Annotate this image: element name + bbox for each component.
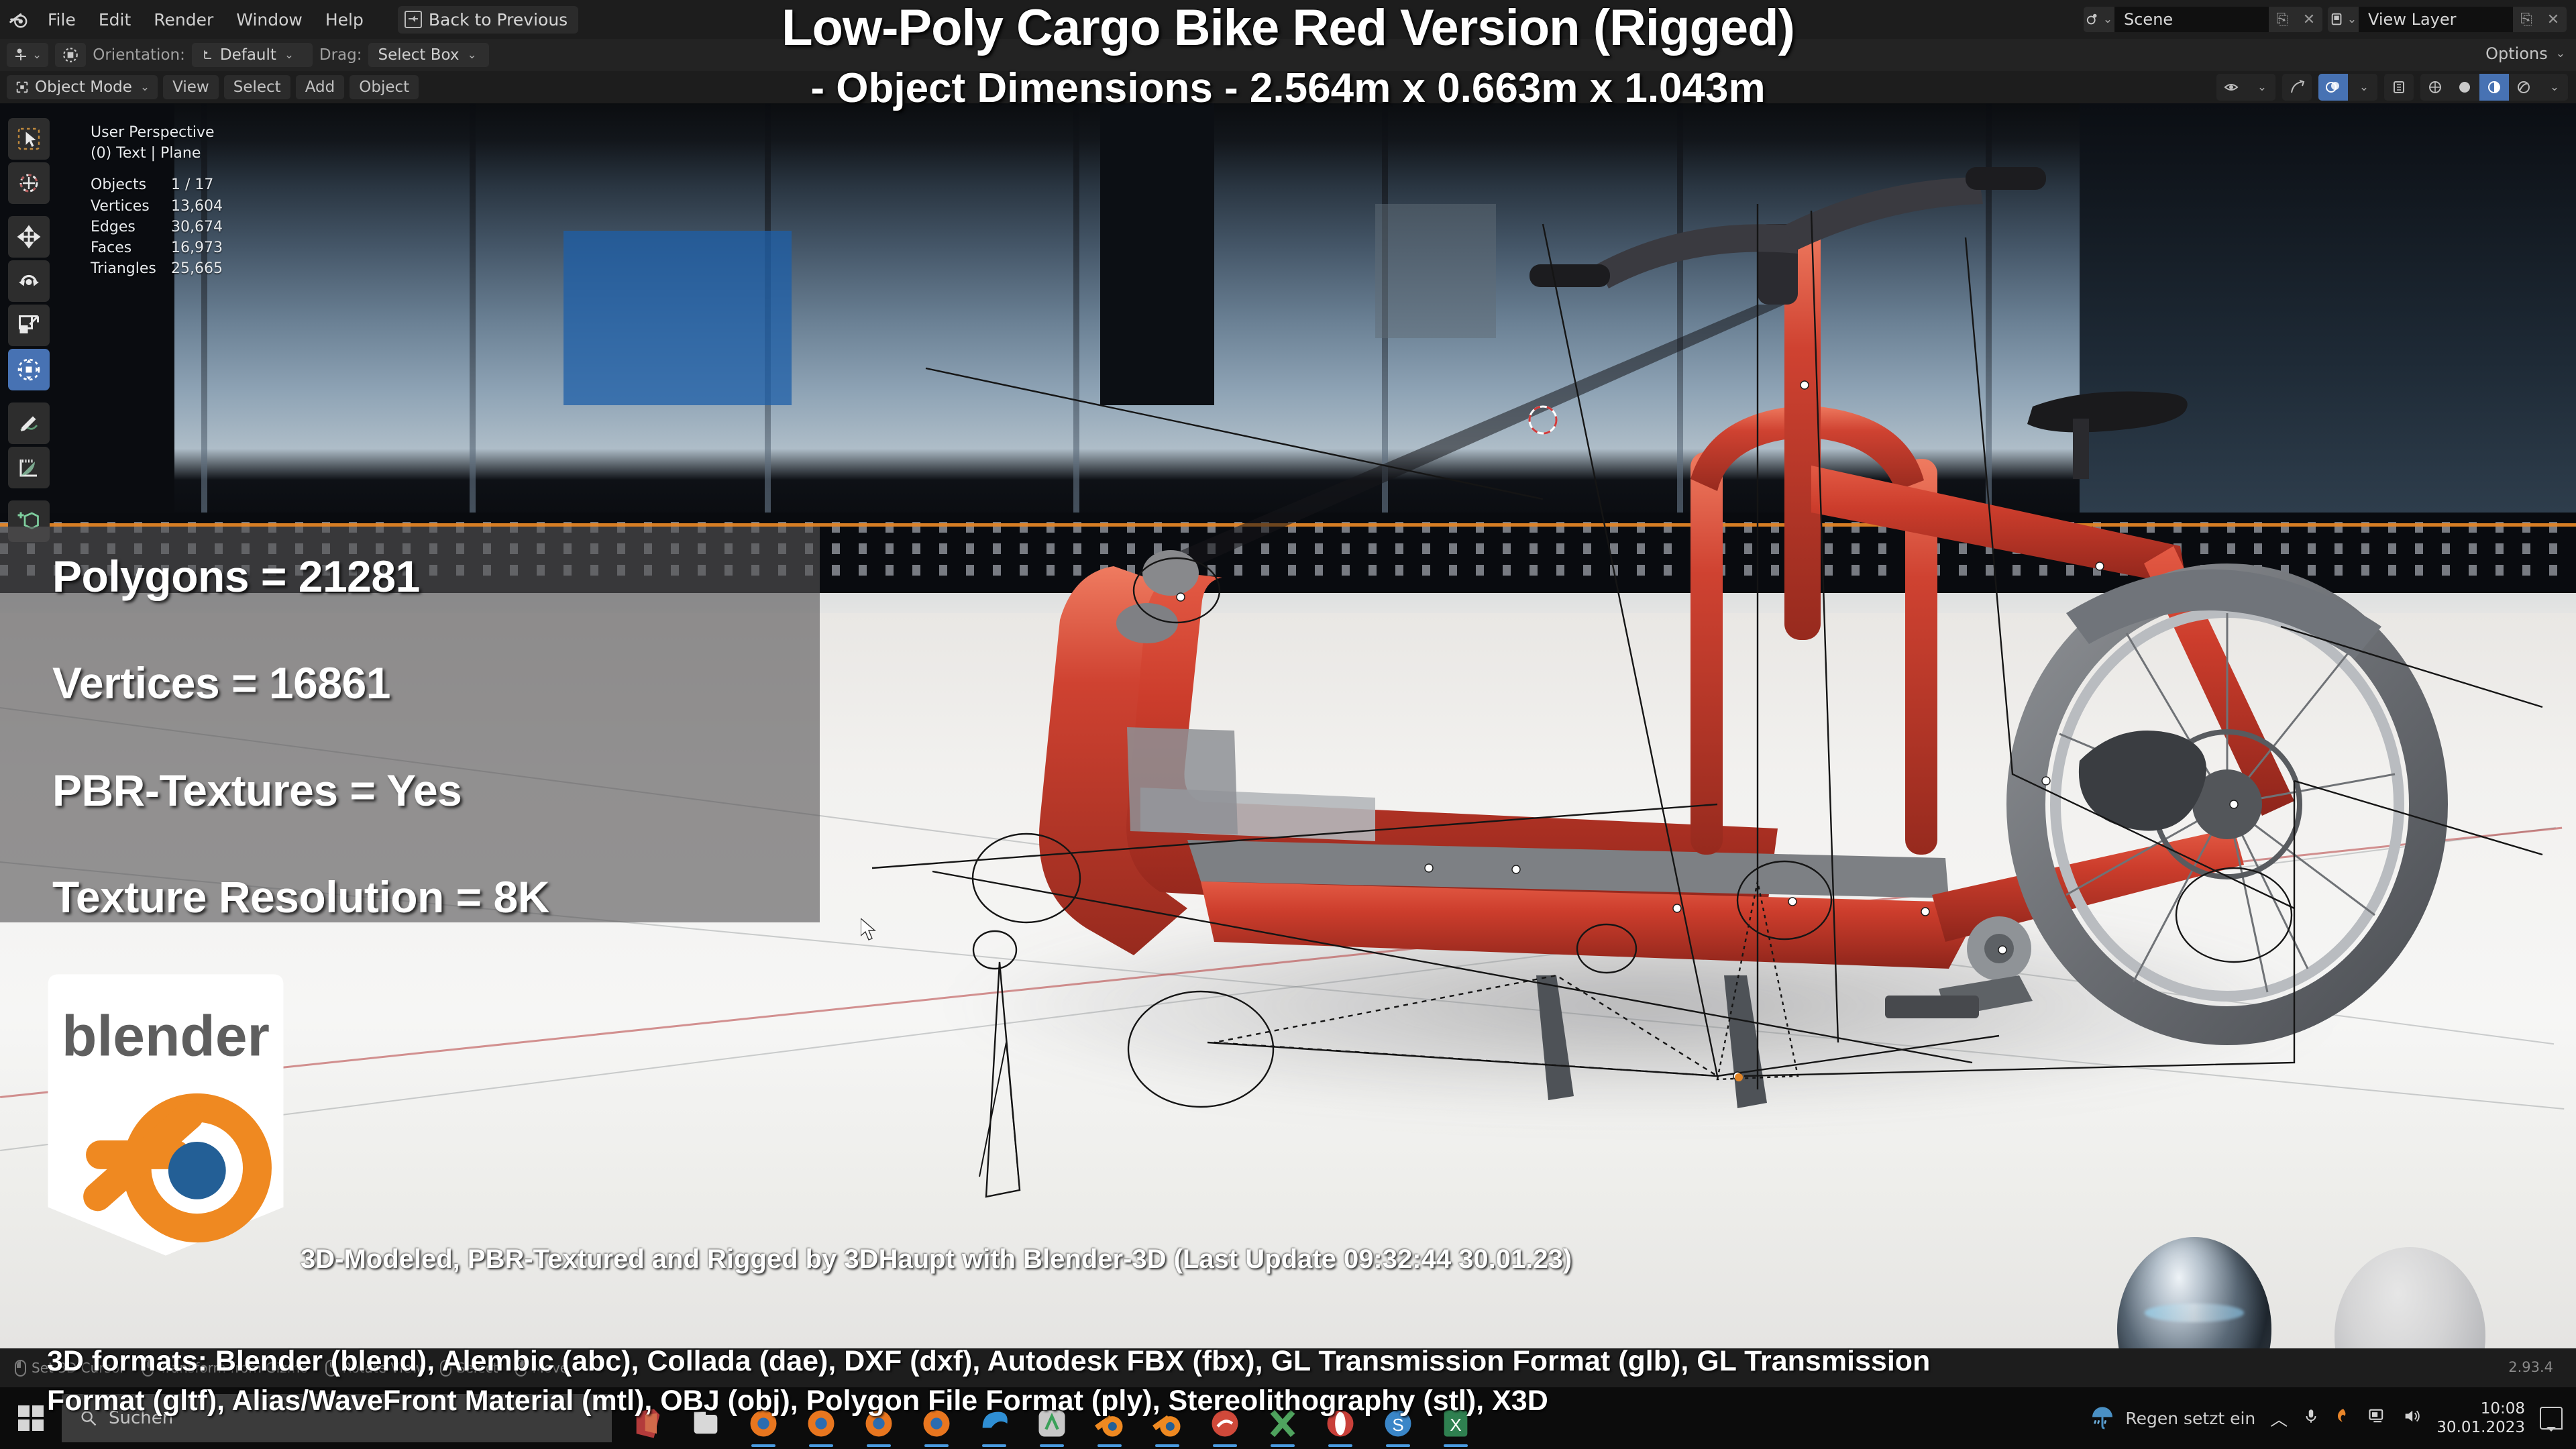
xray-icon[interactable] xyxy=(2384,74,2414,101)
topbar-right-group: ⌄ Scene ⎘ ✕ ⌄ View Layer ⎘ ✕ xyxy=(2084,0,2576,39)
viewport-header-right-group: ⌄ ⌄ xyxy=(2216,74,2568,101)
scene-name-field[interactable]: Scene xyxy=(2114,7,2269,32)
active-tool-icon[interactable]: ⌄ xyxy=(7,43,48,67)
move-tool[interactable] xyxy=(8,216,50,258)
stat-row: Vertices13,604 xyxy=(91,196,223,217)
drag-value: Select Box xyxy=(378,46,459,64)
remove-datablock-icon[interactable]: ✕ xyxy=(2540,7,2567,32)
stat-row: Objects1 / 17 xyxy=(91,174,223,195)
chevron-down-icon: ⌄ xyxy=(140,80,150,94)
object-mode-icon xyxy=(15,80,30,95)
new-datablock-icon[interactable]: ⎘ xyxy=(2269,7,2296,32)
stat-value: 30,674 xyxy=(171,217,223,237)
stat-row: Triangles25,665 xyxy=(91,258,223,279)
blender-logo-icon[interactable] xyxy=(0,0,36,39)
viewport-perspective-label: User Perspective xyxy=(91,122,223,143)
viewport-menu-add[interactable]: Add xyxy=(296,75,345,99)
scale-tool[interactable] xyxy=(8,305,50,346)
chevron-down-icon: ⌄ xyxy=(2556,47,2565,60)
bone-circle xyxy=(1577,924,1636,973)
object-mode-dropdown[interactable]: Object Mode ⌄ xyxy=(7,75,158,99)
3d-cursor-marker xyxy=(1529,407,1556,433)
options-dropdown[interactable]: Options ⌄ xyxy=(2485,44,2565,63)
formats-line-2: Format (gltf), Alias/WaveFront Material … xyxy=(47,1381,2556,1421)
formats-overlay: 3D formats: Blender (blend), Alembic (ab… xyxy=(47,1342,2556,1421)
menu-window[interactable]: Window xyxy=(225,7,314,32)
info-resolution: Texture Resolution = 8K xyxy=(52,871,820,922)
back-to-previous-icon xyxy=(405,11,422,28)
transform-gizmo-icon[interactable] xyxy=(55,43,86,67)
back-to-previous-button[interactable]: Back to Previous xyxy=(398,6,578,34)
formats-line-1: 3D formats: Blender (blend), Alembic (ab… xyxy=(47,1342,2556,1381)
scene-selector[interactable]: ⌄ Scene ⎘ ✕ xyxy=(2084,7,2322,32)
stat-value: 13,604 xyxy=(171,196,223,217)
info-pbr: PBR-Textures = Yes xyxy=(52,765,820,816)
shading-rendered-icon[interactable] xyxy=(2509,74,2538,101)
mouse-cursor xyxy=(861,918,878,945)
view-layer-icon[interactable]: ⌄ xyxy=(2328,7,2359,32)
stat-key: Faces xyxy=(91,237,171,258)
menu-help[interactable]: Help xyxy=(314,7,375,32)
chevron-down-icon[interactable]: ⌄ xyxy=(2538,74,2568,101)
viewport-active-object-label: (0) Text | Plane xyxy=(91,143,223,164)
shading-solid-icon[interactable] xyxy=(2450,74,2479,101)
viewport-menu-select[interactable]: Select xyxy=(224,75,290,99)
bone-circle xyxy=(2176,868,2292,962)
viewport-menu-object[interactable]: Object xyxy=(350,75,419,99)
tweak-select-tool[interactable] xyxy=(8,118,50,160)
stat-key: Edges xyxy=(91,217,171,237)
menu-edit[interactable]: Edit xyxy=(87,7,142,32)
stat-row: Faces16,973 xyxy=(91,237,223,258)
shading-material-icon[interactable] xyxy=(2479,74,2509,101)
orientation-dropdown[interactable]: Default ⌄ xyxy=(192,43,313,67)
stat-value: 25,665 xyxy=(171,258,223,279)
blender-wordmark: blender xyxy=(62,1004,270,1068)
info-vertices: Vertices = 16861 xyxy=(52,657,820,708)
orientation-value: Default xyxy=(220,46,276,64)
bone-shape xyxy=(986,962,1020,1197)
bone-shape xyxy=(1214,975,1717,1076)
bone-circle xyxy=(1128,991,1273,1107)
scene-icon[interactable]: ⌄ xyxy=(2084,7,2114,32)
bone-circle xyxy=(973,834,1080,922)
stat-value: 16,973 xyxy=(171,237,223,258)
chevron-down-icon[interactable]: ⌄ xyxy=(2246,74,2275,101)
bone-circle xyxy=(973,931,1016,969)
measure-tool[interactable] xyxy=(8,447,50,488)
bone-circle xyxy=(1134,558,1220,623)
viewport-left-toolbar xyxy=(8,118,50,542)
blender-logo-badge: blender xyxy=(35,974,297,1256)
bone-circle xyxy=(1737,861,1831,939)
shading-wireframe-icon[interactable] xyxy=(2420,74,2450,101)
stat-key: Vertices xyxy=(91,196,171,217)
blender-top-bar: File Edit Render Window Help Back to Pre… xyxy=(0,0,2576,39)
info-polygons: Polygons = 21281 xyxy=(52,551,820,602)
back-to-previous-label: Back to Previous xyxy=(429,10,568,30)
transform-tool[interactable] xyxy=(8,349,50,390)
new-datablock-icon[interactable]: ⎘ xyxy=(2513,7,2540,32)
rotate-tool[interactable] xyxy=(8,260,50,302)
orientation-label: Orientation: xyxy=(93,46,185,64)
view-layer-selector[interactable]: ⌄ View Layer ⎘ ✕ xyxy=(2328,7,2567,32)
drag-dropdown[interactable]: Select Box ⌄ xyxy=(368,43,489,67)
viewport-statistics-overlay: User Perspective (0) Text | Plane Object… xyxy=(91,122,223,280)
stat-row: Edges30,674 xyxy=(91,217,223,237)
drag-label: Drag: xyxy=(319,46,362,64)
tool-settings-bar: ⌄ Orientation: Default ⌄ Drag: Select Bo… xyxy=(0,39,2576,71)
chevron-down-icon: ⌄ xyxy=(468,48,477,62)
menu-file[interactable]: File xyxy=(36,7,87,32)
credit-line: 3D-Modeled, PBR-Textured and Rigged by 3… xyxy=(301,1244,1572,1275)
visibility-icon[interactable] xyxy=(2216,74,2246,101)
menu-render[interactable]: Render xyxy=(142,7,225,32)
stat-key: Objects xyxy=(91,174,171,195)
chevron-down-icon: ⌄ xyxy=(284,48,294,62)
viewport-header-bar: Object Mode ⌄ View Select Add Object ⌄ xyxy=(0,71,2576,103)
annotate-tool[interactable] xyxy=(8,402,50,444)
mouse-left-icon xyxy=(15,1360,26,1377)
remove-datablock-icon[interactable]: ✕ xyxy=(2296,7,2322,32)
stat-value: 1 / 17 xyxy=(171,174,213,195)
object-mode-label: Object Mode xyxy=(35,78,132,96)
object-origin-dot xyxy=(1735,1073,1743,1081)
overlays-icon[interactable] xyxy=(2318,74,2348,101)
stat-key: Triangles xyxy=(91,258,171,279)
gizmo-icon[interactable] xyxy=(2282,74,2312,101)
blender-application-window: User Perspective (0) Text | Plane Object… xyxy=(0,0,2576,1449)
cursor-tool[interactable] xyxy=(8,162,50,204)
options-label: Options xyxy=(2485,44,2548,63)
viewport-menu-view[interactable]: View xyxy=(163,75,219,99)
chevron-down-icon[interactable]: ⌄ xyxy=(2348,74,2377,101)
model-info-panel: Polygons = 21281 Vertices = 16861 PBR-Te… xyxy=(0,527,820,922)
view-layer-name-field[interactable]: View Layer xyxy=(2359,7,2513,32)
